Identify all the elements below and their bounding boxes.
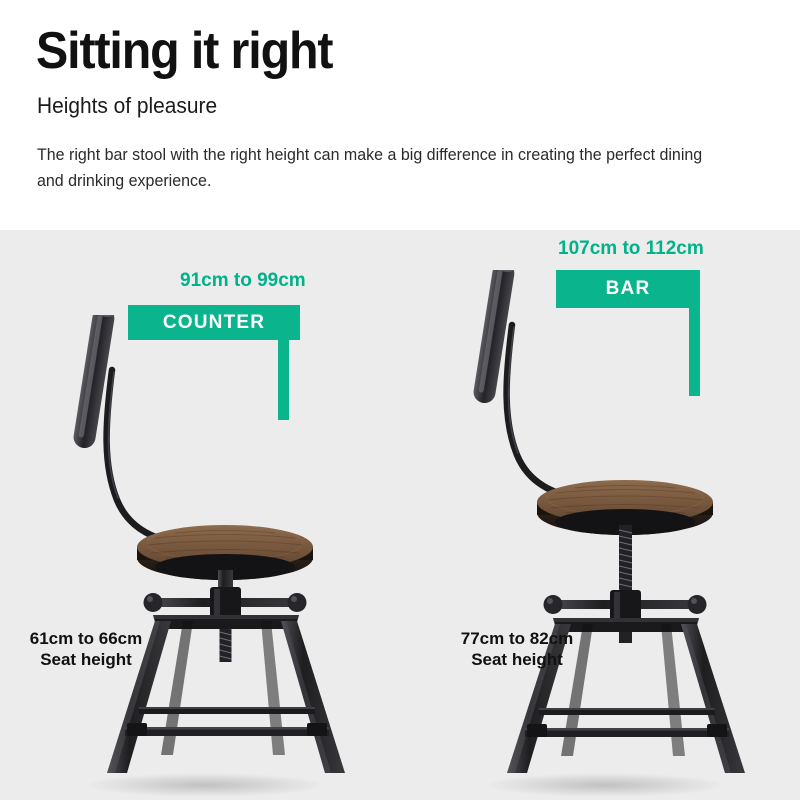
counter-seat-range: 61cm to 66cm: [6, 628, 166, 649]
header-section: Sitting it right Heights of pleasure The…: [0, 0, 800, 230]
floor-shadow: [485, 773, 725, 797]
page-subtitle: Heights of pleasure: [37, 92, 217, 120]
bar-callout-bar: BAR: [556, 270, 700, 308]
counter-range-label: 91cm to 99cm: [180, 270, 306, 292]
bar-range-label: 107cm to 112cm: [558, 238, 704, 260]
bar-seat-label: Seat height: [437, 649, 597, 670]
backrest-support-arm: [107, 370, 187, 544]
counter-stool-illustration: [55, 315, 355, 800]
backrest-support-arm: [507, 325, 587, 499]
counter-callout-stem: [278, 340, 289, 420]
counter-seat-label: Seat height: [6, 649, 166, 670]
counter-callout-label: COUNTER: [163, 312, 265, 334]
bar-seat-range: 77cm to 82cm: [437, 628, 597, 649]
infographic-page: Sitting it right Heights of pleasure The…: [0, 0, 800, 800]
bar-callout-label: BAR: [606, 278, 651, 300]
page-body-text: The right bar stool with the right heigh…: [37, 142, 732, 194]
floor-shadow: [85, 773, 325, 797]
bar-seat-height-caption: 77cm to 82cm Seat height: [437, 628, 597, 670]
bar-callout-stem: [689, 308, 700, 396]
illustration-stage: 91cm to 99cm COUNTER 107cm to 112cm BAR …: [0, 230, 800, 800]
counter-callout-bar: COUNTER: [128, 305, 300, 340]
counter-seat-height-caption: 61cm to 66cm Seat height: [6, 628, 166, 670]
bar-stool-illustration: [455, 270, 755, 800]
page-title: Sitting it right: [36, 22, 332, 80]
